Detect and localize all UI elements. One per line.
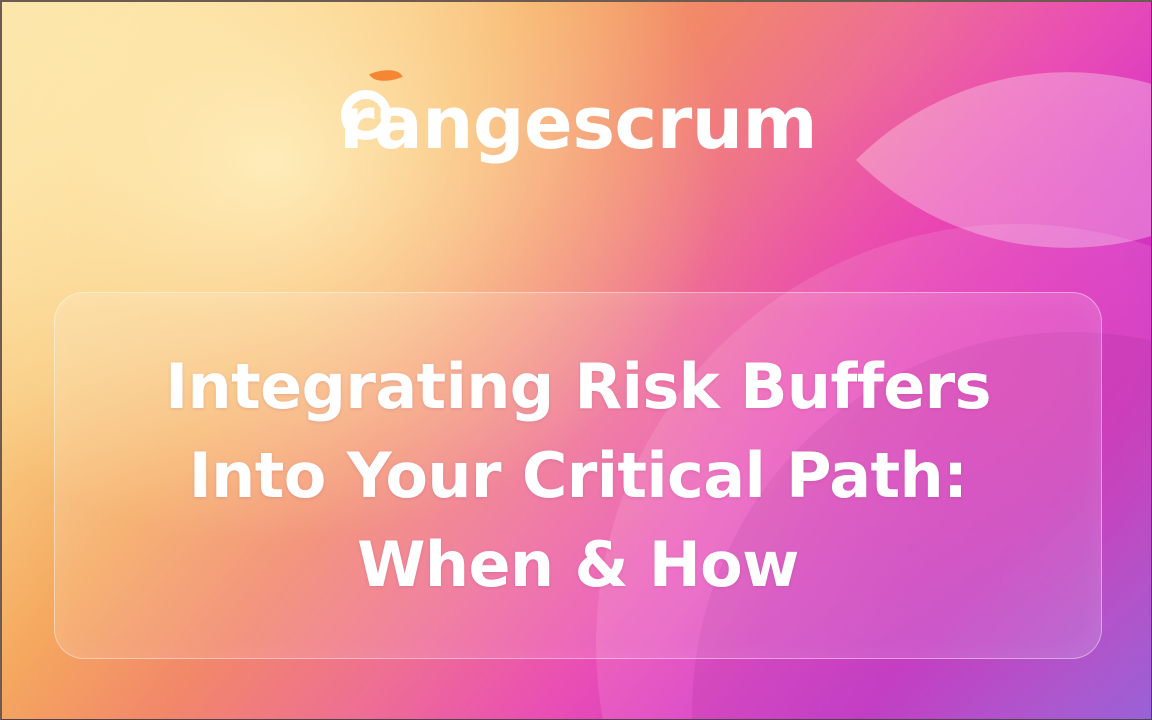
brand-logo-inner: Orangescrum <box>339 76 817 159</box>
brand-logo-text: Orangescrum <box>339 76 817 159</box>
title-card: Integrating Risk Buffers Into Your Criti… <box>54 292 1102 659</box>
logo-o-ring-icon <box>341 90 391 140</box>
logo-leaf-icon <box>369 63 402 88</box>
page-title: Integrating Risk Buffers Into Your Criti… <box>55 342 1101 609</box>
title-slide: Orangescrum Integrating Risk Buffers Int… <box>0 0 1152 720</box>
brand-logo-wordmark: rangescrum <box>339 81 817 165</box>
title-line-2: Into Your Critical Path: <box>89 431 1067 520</box>
brand-logo: Orangescrum <box>2 76 1152 159</box>
title-line-3: When & How <box>89 520 1067 609</box>
title-line-1: Integrating Risk Buffers <box>89 342 1067 431</box>
